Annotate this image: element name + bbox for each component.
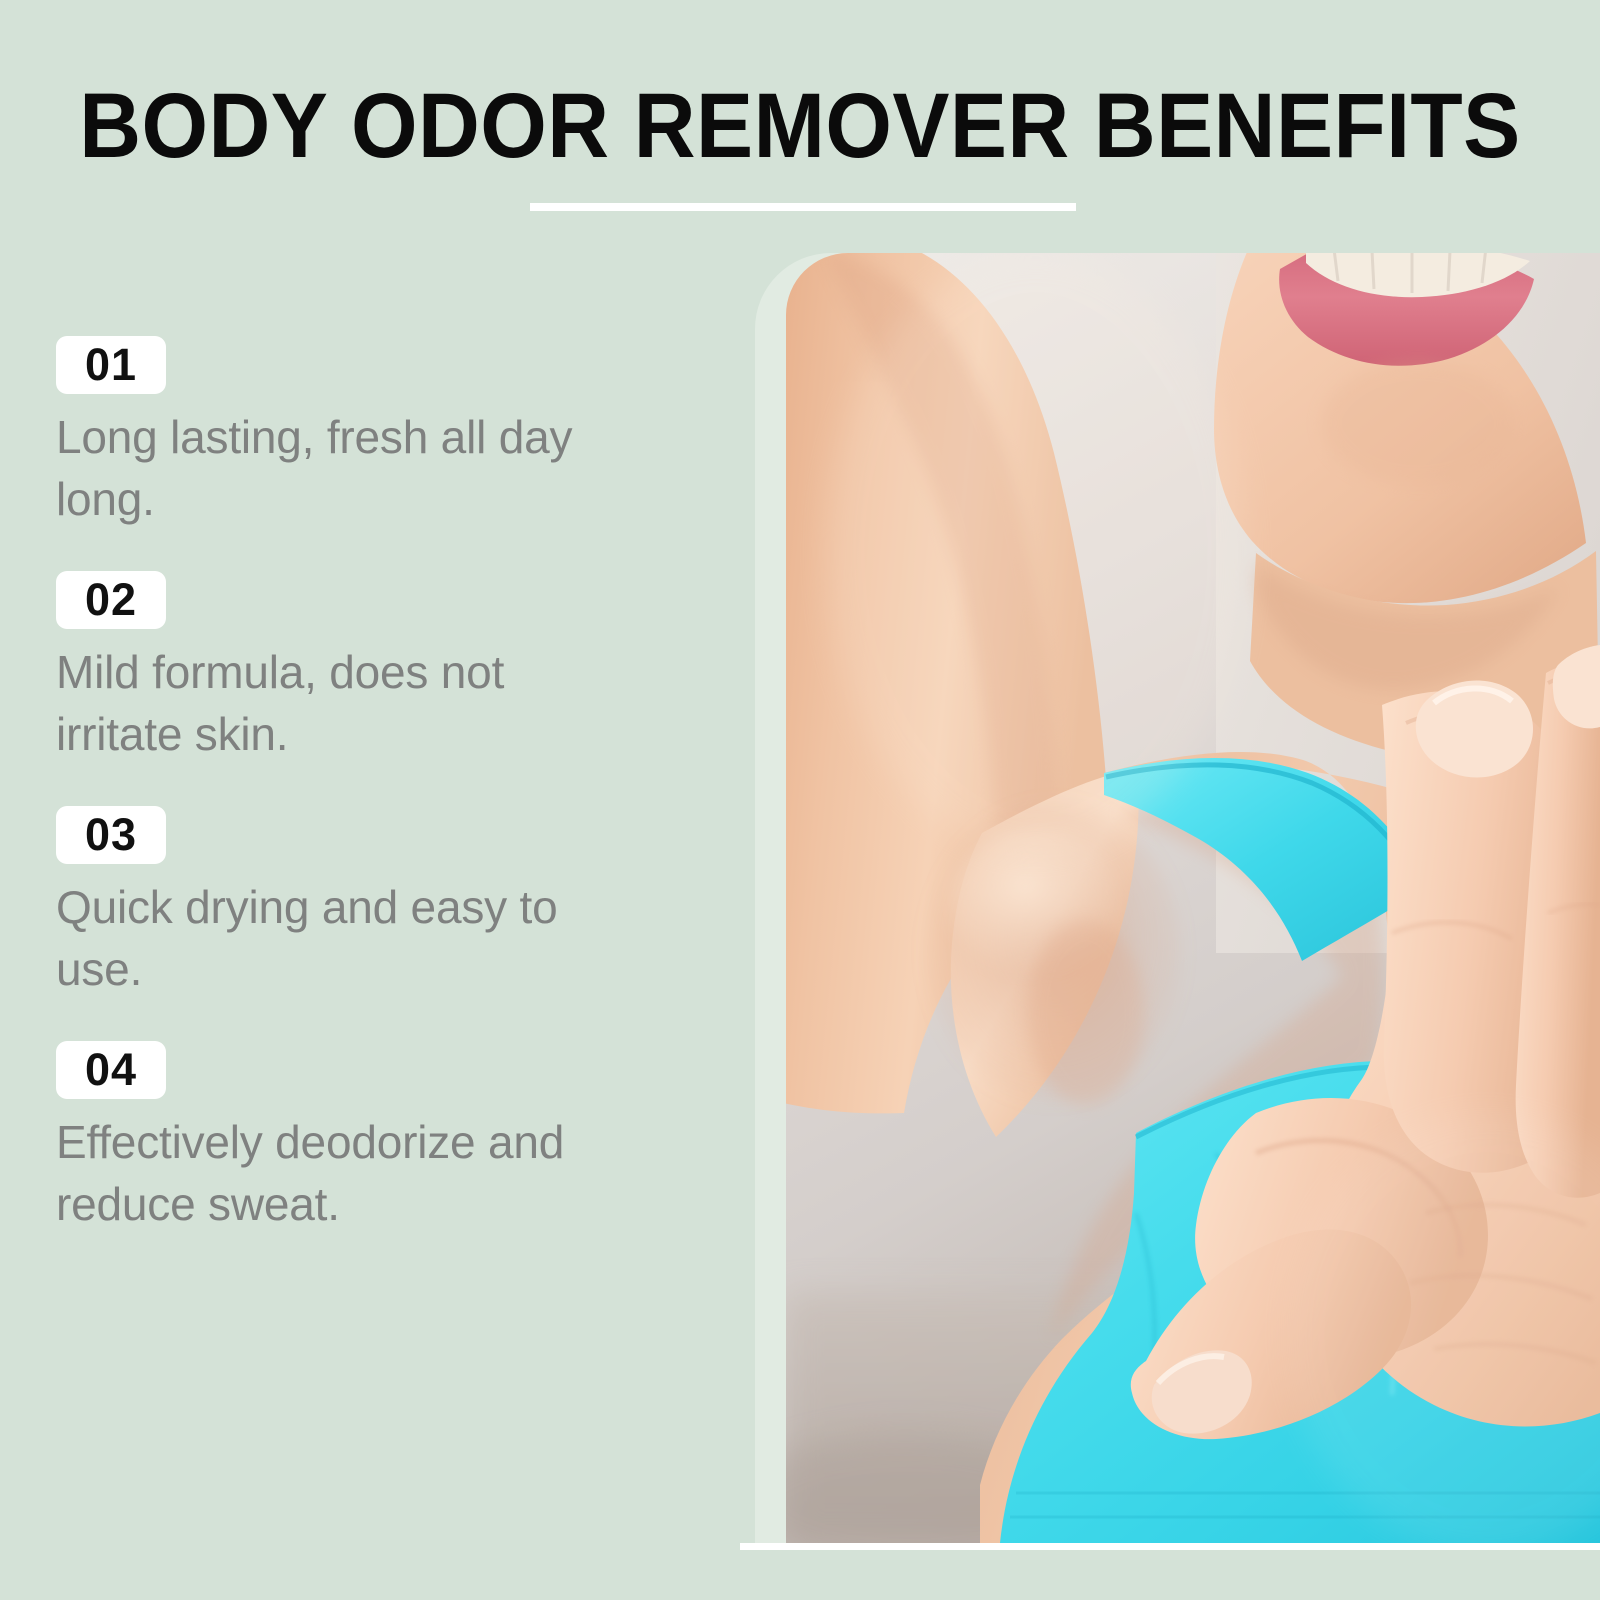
benefit-number-badge: 02 xyxy=(56,571,166,629)
benefit-description: Quick drying and easy to use. xyxy=(56,876,641,1000)
benefit-number-badge: 01 xyxy=(56,336,166,394)
benefit-description: Mild formula, does not irritate skin. xyxy=(56,641,641,765)
benefit-description: Effectively deodorize and reduce sweat. xyxy=(56,1111,641,1235)
title-underline-divider xyxy=(530,203,1076,211)
page-title: BODY ODOR REMOVER BENEFITS xyxy=(56,78,1544,174)
model-photo-illustration xyxy=(786,253,1600,1543)
header: BODY ODOR REMOVER BENEFITS xyxy=(0,0,1600,240)
benefit-item-02: 02 Mild formula, does not irritate skin. xyxy=(56,571,676,765)
benefit-item-04: 04 Effectively deodorize and reduce swea… xyxy=(56,1041,676,1235)
benefit-number-badge: 03 xyxy=(56,806,166,864)
benefits-list: 01 Long lasting, fresh all day long. 02 … xyxy=(56,336,676,1235)
benefit-number-badge: 04 xyxy=(56,1041,166,1099)
benefit-description: Long lasting, fresh all day long. xyxy=(56,406,641,530)
photo-frame xyxy=(786,253,1600,1543)
benefit-item-03: 03 Quick drying and easy to use. xyxy=(56,806,676,1000)
poster-canvas: BODY ODOR REMOVER BENEFITS 01 Long lasti… xyxy=(0,0,1600,1600)
product-photo-panel xyxy=(740,253,1600,1543)
benefit-item-01: 01 Long lasting, fresh all day long. xyxy=(56,336,676,530)
photo-bottom-rule xyxy=(740,1543,1600,1550)
